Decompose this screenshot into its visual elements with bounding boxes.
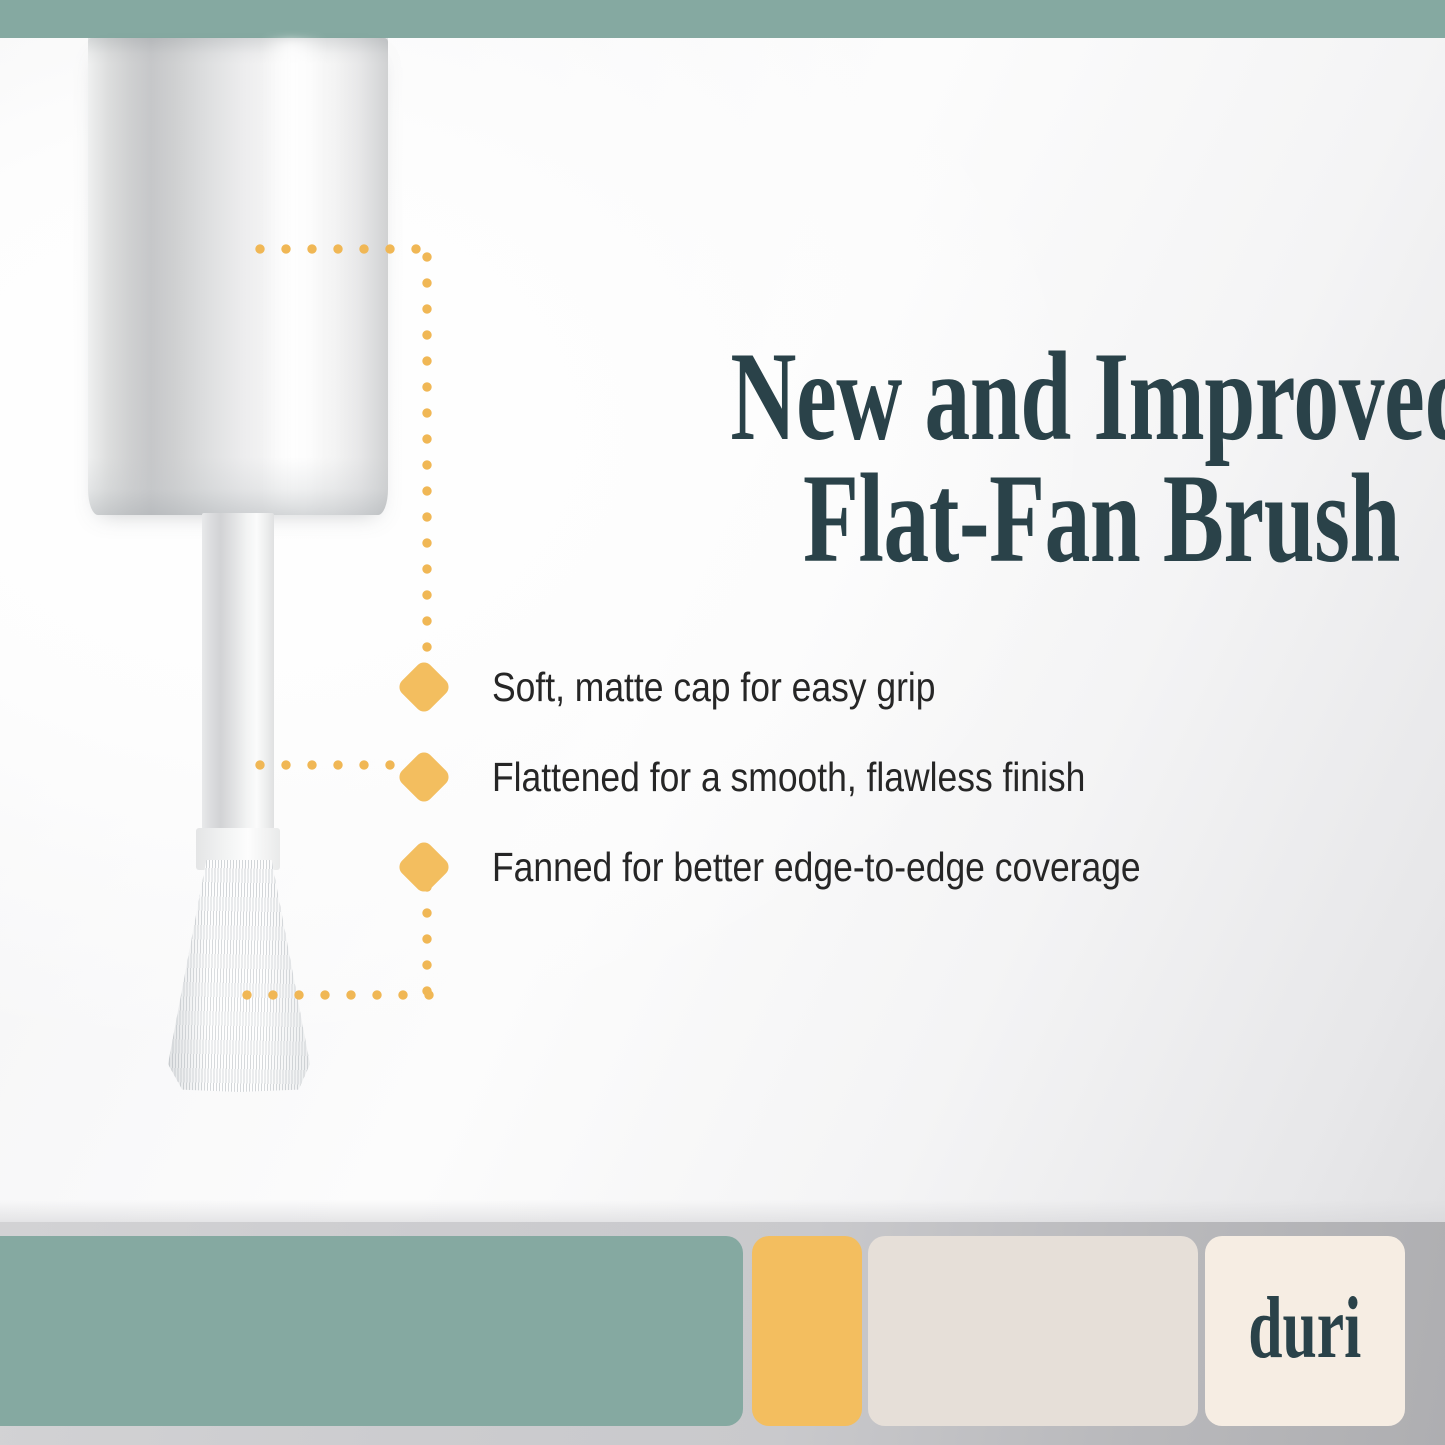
top-accent-bar — [0, 0, 1445, 38]
feature-label-soft-matte-cap: Soft, matte cap for easy grip — [492, 667, 936, 708]
beige-panel — [868, 1236, 1198, 1426]
product-infographic: New and Improved Flat-Fan Brush Soft, ma… — [0, 0, 1445, 1445]
list-item: Fanned for better edge-to-edge coverage — [398, 822, 1388, 912]
brand-logo: duri — [1249, 1285, 1362, 1373]
feature-label-flattened-finish: Flattened for a smooth, flawless finish — [492, 757, 1085, 798]
cap-top-shading — [88, 38, 388, 64]
diamond-bullet-icon — [396, 749, 453, 806]
feature-label-fanned-coverage: Fanned for better edge-to-edge coverage — [492, 847, 1141, 888]
nail-polish-cap — [88, 38, 388, 515]
amber-panel — [752, 1236, 862, 1426]
footer-color-bar: duri — [0, 1236, 1445, 1426]
feature-list: Soft, matte cap for easy grip Flattened … — [398, 642, 1388, 912]
cap-bottom-shading — [88, 457, 388, 515]
list-item: Soft, matte cap for easy grip — [398, 642, 1388, 732]
headline-line-2: Flat-Fan Brush — [730, 459, 1400, 581]
list-item: Flattened for a smooth, flawless finish — [398, 732, 1388, 822]
bristle-connector-horizontal-line — [242, 990, 438, 1000]
brush-bristles-shading — [168, 860, 310, 1092]
page-title: New and Improved Flat-Fan Brush — [730, 337, 1400, 581]
headline-line-1: New and Improved — [730, 337, 1400, 459]
diamond-bullet-icon — [396, 839, 453, 896]
diamond-bullet-icon — [396, 659, 453, 716]
cap-connector-vertical-line — [422, 252, 432, 664]
cap-connector-horizontal-line — [255, 244, 437, 254]
brush-stem — [202, 513, 274, 829]
cream-logo-panel: duri — [1205, 1236, 1405, 1426]
sage-panel — [0, 1236, 743, 1426]
cap-gloss-highlight — [262, 40, 326, 510]
product-photo — [0, 38, 470, 1098]
